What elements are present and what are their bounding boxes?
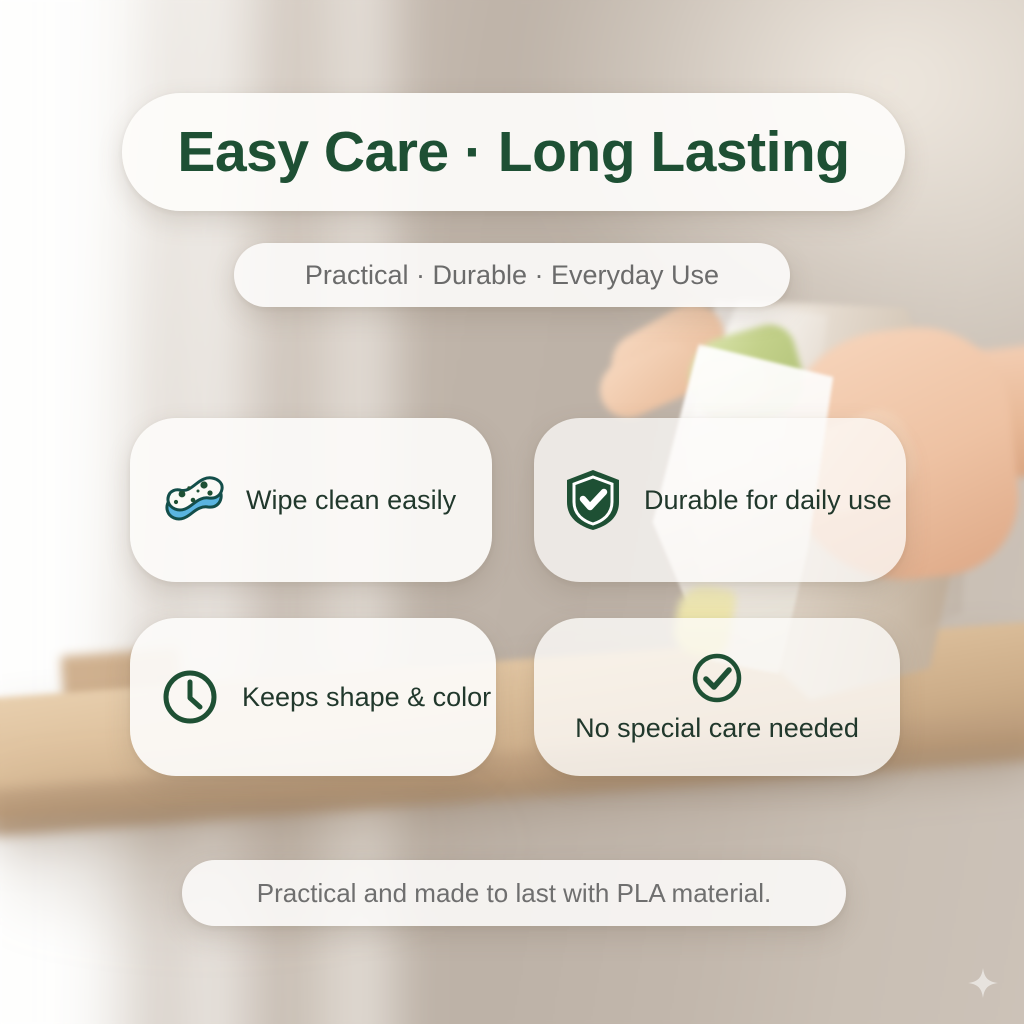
footer-text: Practical and made to last with PLA mate… [257, 878, 771, 909]
feature-label: Durable for daily use [644, 485, 892, 516]
footer-pill: Practical and made to last with PLA mate… [182, 860, 846, 926]
sparkle-icon [968, 968, 998, 998]
feature-card-wipe-clean[interactable]: Wipe clean easily [130, 418, 492, 582]
check-circle-icon [690, 651, 744, 705]
feature-card-no-special-care[interactable]: No special care needed [534, 618, 900, 776]
page-title: Easy Care · Long Lasting [177, 119, 849, 185]
feature-label: Keeps shape & color [242, 682, 491, 713]
feature-label: Wipe clean easily [246, 485, 456, 516]
page-subtitle: Practical · Durable · Everyday Use [305, 260, 719, 291]
feature-card-durable[interactable]: Durable for daily use [534, 418, 906, 582]
title-pill: Easy Care · Long Lasting [122, 93, 905, 211]
feature-label: No special care needed [575, 713, 859, 744]
clock-icon [160, 667, 220, 727]
feature-card-keeps-shape[interactable]: Keeps shape & color [130, 618, 496, 776]
subtitle-pill: Practical · Durable · Everyday Use [234, 243, 790, 307]
sponge-icon [160, 471, 224, 529]
shield-check-icon [564, 468, 622, 532]
